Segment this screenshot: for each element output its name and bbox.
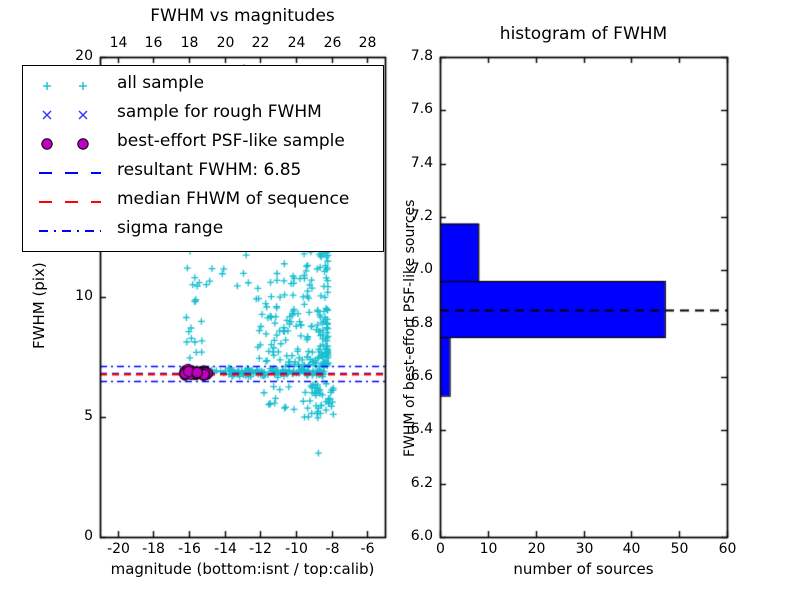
left-xtick-5: -10 [285,541,308,557]
left-toptick-6: 26 [324,35,342,51]
right-ytick-1: 6.2 [411,475,433,491]
left-xtick-1: -18 [142,541,165,557]
legend-marker-dashed-icon [33,161,109,185]
right-xtick-3: 30 [576,541,594,557]
legend-marker-cross-icon [33,103,109,127]
legend-label-5: sigma range [117,218,223,238]
right-panel-title: histogram of FWHM [500,24,667,44]
right-xtick-4: 40 [623,541,641,557]
legend: all samplesample for rough FWHMbest-effo… [22,65,384,252]
right-xtick-5: 50 [671,541,689,557]
legend-label-2: best-effort PSF-like sample [117,131,345,151]
left-ytick-1: 5 [84,408,93,424]
figure-root: FWHM vs magnitudes magnitude (bottom:isn… [0,0,800,600]
legend-label-4: median FHWM of sequence [117,189,349,209]
left-xtick-3: -14 [214,541,237,557]
right-ytick-6: 7.2 [411,208,433,224]
legend-label-0: all sample [117,73,204,93]
left-toptick-7: 28 [359,35,377,51]
legend-item-2: best-effort PSF-like sample [33,132,373,158]
legend-label-3: resultant FWHM: 6.85 [117,160,301,180]
right-xtick-2: 20 [528,541,546,557]
right-ytick-0: 6.0 [411,528,433,544]
legend-marker-dashdot-icon [33,219,109,243]
left-panel-ylabel: FWHM (pix) [30,262,48,349]
right-panel-xlabel: number of sources [513,560,653,578]
left-toptick-1: 16 [145,35,163,51]
left-panel-title: FWHM vs magnitudes [150,6,335,26]
right-ytick-5: 7.0 [411,261,433,277]
legend-item-5: sigma range [33,219,373,245]
left-xtick-0: -20 [107,541,130,557]
left-ytick-2: 10 [75,288,93,304]
legend-item-1: sample for rough FWHM [33,103,373,129]
left-xtick-4: -12 [249,541,272,557]
left-panel-xlabel: magnitude (bottom:isnt / top:calib) [111,560,375,578]
legend-item-3: resultant FWHM: 6.85 [33,161,373,187]
right-xtick-1: 10 [480,541,498,557]
legend-label-1: sample for rough FWHM [117,102,322,122]
right-xtick-6: 60 [719,541,737,557]
legend-item-0: all sample [33,74,373,100]
legend-marker-plus-icon [33,74,109,98]
legend-marker-dashed-icon [33,190,109,214]
legend-marker-dot-icon [33,132,109,156]
right-ytick-4: 6.8 [411,315,433,331]
right-ytick-9: 7.8 [411,48,433,64]
left-toptick-5: 24 [288,35,306,51]
left-toptick-2: 18 [181,35,199,51]
right-ytick-2: 6.4 [411,421,433,437]
right-xtick-0: 0 [436,541,445,557]
legend-item-4: median FHWM of sequence [33,190,373,216]
left-xtick-2: -16 [178,541,201,557]
left-toptick-0: 14 [110,35,128,51]
left-toptick-4: 22 [252,35,270,51]
right-ytick-8: 7.6 [411,101,433,117]
left-xtick-7: -6 [361,541,375,557]
right-ytick-3: 6.6 [411,368,433,384]
left-toptick-3: 20 [217,35,235,51]
left-xtick-6: -8 [326,541,340,557]
right-ytick-7: 7.4 [411,155,433,171]
left-ytick-3: 20 [75,48,93,64]
left-ytick-0: 0 [84,528,93,544]
